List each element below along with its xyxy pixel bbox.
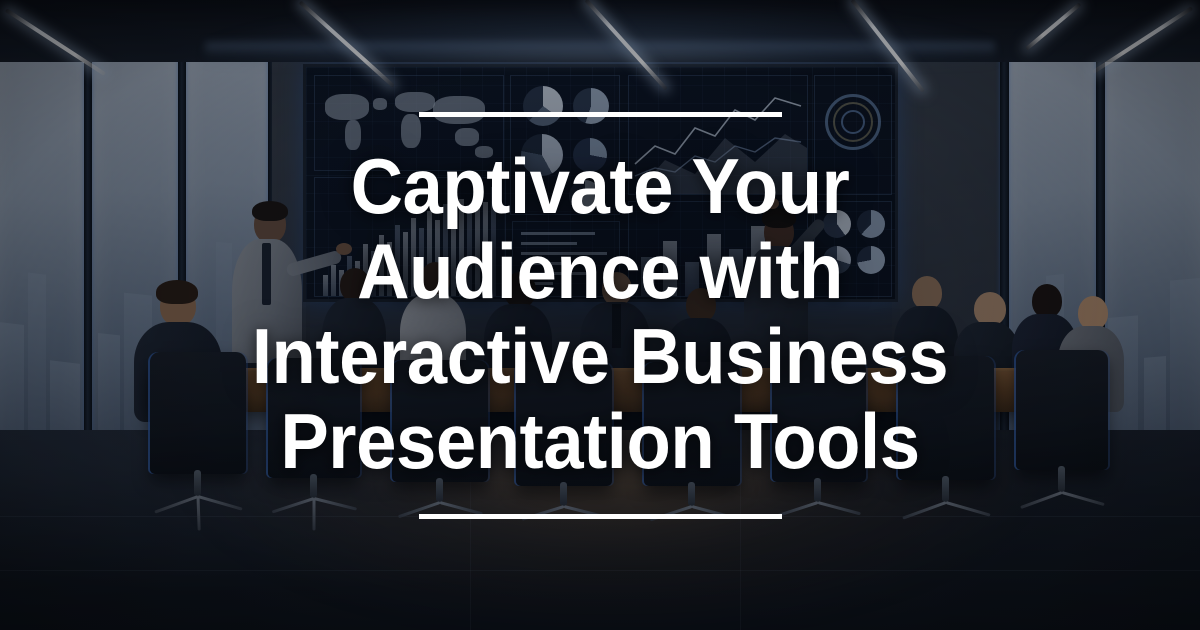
divider-bottom (419, 514, 782, 519)
page-title: Captivate Your Audience with Interactive… (107, 144, 1093, 484)
headline-line-4: Presentation Tools (107, 399, 1093, 484)
divider-top (419, 112, 782, 117)
headline-line-2: Audience with (107, 229, 1093, 314)
headline-line-1: Captivate Your (107, 144, 1093, 229)
headline-line-3: Interactive Business (107, 314, 1093, 399)
banner-canvas: Captivate Your Audience with Interactive… (0, 0, 1200, 630)
banner-content: Captivate Your Audience with Interactive… (0, 0, 1200, 630)
